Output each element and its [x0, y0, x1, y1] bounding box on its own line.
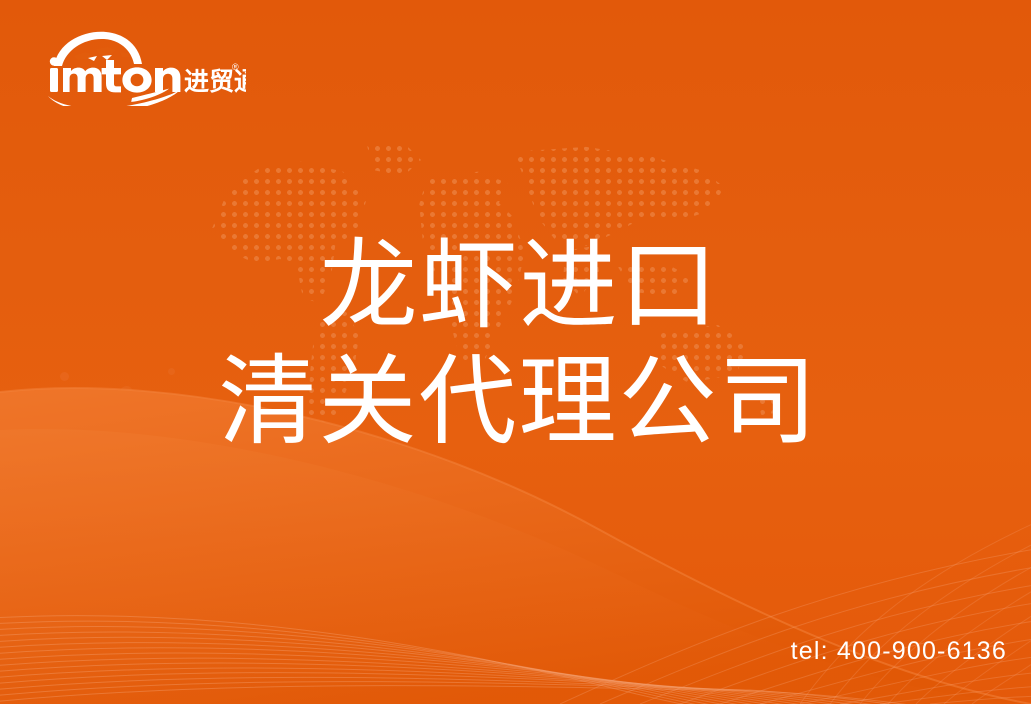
imton-logo[interactable]: 进贸通 ®: [36, 26, 246, 106]
headline: 龙虾进口 清关代理公司: [0, 233, 1031, 455]
logo-chinese-text: 进贸通: [184, 68, 246, 96]
telephone-label: tel: 400-900-6136: [791, 637, 1007, 666]
headline-line-1: 龙虾进口: [8, 233, 1031, 339]
globe-icon: [52, 26, 142, 66]
promo-banner: 进贸通 ® 龙虾进口 清关代理公司 tel: 400-900-6136: [0, 0, 1031, 704]
headline-line-2: 清关代理公司: [6, 349, 1031, 455]
logo-trademark-symbol: ®: [232, 62, 239, 72]
